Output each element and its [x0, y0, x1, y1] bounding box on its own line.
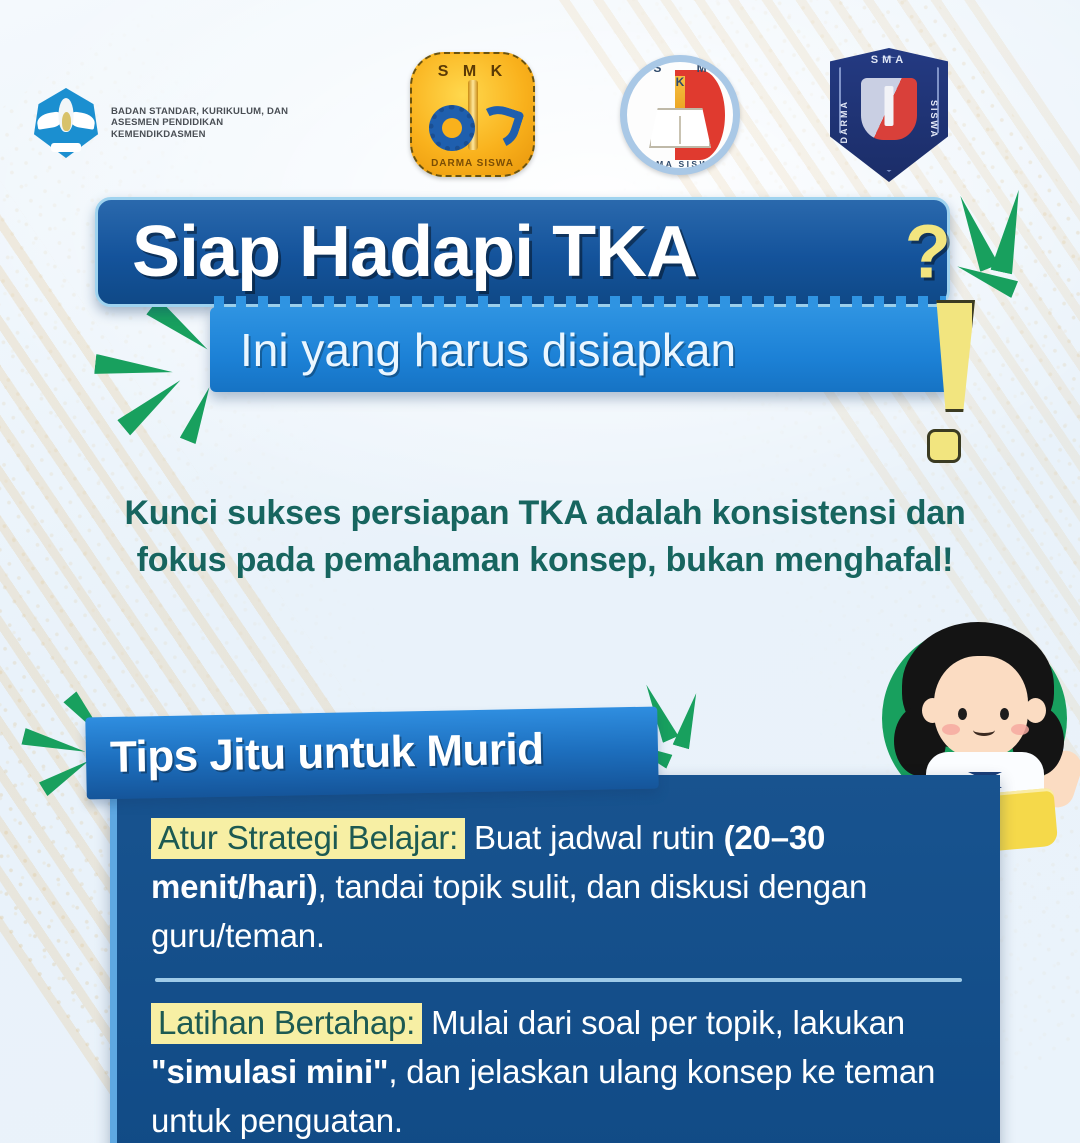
- tut-wuri-handayani-icon: [34, 88, 98, 158]
- smk1-top-label: S M K: [412, 63, 533, 81]
- tip-2-body-1: Mulai dari soal per topik, lakukan: [422, 1004, 905, 1041]
- tip-1-body-1: Buat jadwal rutin: [465, 819, 724, 856]
- smk-darma-siswa-2-logo: S M K DARMA SISWA 2: [620, 55, 740, 175]
- crest-icon: [861, 78, 917, 140]
- exclamation-mark-icon: [925, 300, 985, 465]
- sma-left-label: DARMA: [839, 100, 849, 144]
- tips-ribbon-label: Tips Jitu untuk Murid: [110, 725, 544, 783]
- starburst-right: [955, 185, 1080, 315]
- tip-item-2: Latihan Bertahap: Mulai dari soal per to…: [151, 998, 966, 1143]
- tip-1-highlight: Atur Strategi Belajar:: [151, 818, 465, 859]
- lead-paragraph: Kunci sukses persiapan TKA adalah konsis…: [120, 490, 970, 584]
- sma-top-label: SMA: [830, 54, 948, 66]
- smk-darma-siswa-logo: S M K DARMA SISWA: [410, 52, 535, 177]
- hero-section: Siap Hadapi TKA ? Ini yang harus disiapk…: [0, 185, 1080, 465]
- hero-question-mark: ?: [905, 209, 951, 296]
- smk1-bottom-label: DARMA SISWA: [412, 158, 533, 169]
- hero-title: Siap Hadapi TKA: [132, 211, 697, 293]
- hero-subtitle-bar: Ini yang harus disiapkan: [210, 307, 950, 392]
- smk2-bottom-label: DARMA SISWA 2: [627, 159, 733, 169]
- tips-divider: [155, 978, 962, 982]
- tip-item-1: Atur Strategi Belajar: Buat jadwal rutin…: [151, 813, 966, 960]
- infographic-poster: BADAN STANDAR, KURIKULUM, DAN ASESMEN PE…: [0, 0, 1080, 1143]
- gear-icon: [429, 105, 475, 151]
- ribbon-ticks: [214, 296, 946, 308]
- tip-2-highlight: Latihan Bertahap:: [151, 1003, 422, 1044]
- sma-darma-siswa-logo: SMA DARMA SISWA: [830, 48, 948, 182]
- tips-card: Atur Strategi Belajar: Buat jadwal rutin…: [110, 775, 1000, 1143]
- tip-2-bold-1: "simulasi mini": [151, 1053, 388, 1090]
- sma-right-label: SISWA: [929, 100, 939, 139]
- ministry-name-label: BADAN STANDAR, KURIKULUM, DAN ASESMEN PE…: [111, 106, 296, 141]
- smk2-top-label: S M K: [627, 61, 733, 89]
- logo-row: BADAN STANDAR, KURIKULUM, DAN ASESMEN PE…: [0, 30, 1080, 170]
- hero-subtitle: Ini yang harus disiapkan: [240, 323, 736, 377]
- tips-ribbon: Tips Jitu untuk Murid: [85, 707, 658, 800]
- ministry-logo-block: BADAN STANDAR, KURIKULUM, DAN ASESMEN PE…: [34, 88, 296, 158]
- hero-title-bar: Siap Hadapi TKA ?: [95, 197, 950, 307]
